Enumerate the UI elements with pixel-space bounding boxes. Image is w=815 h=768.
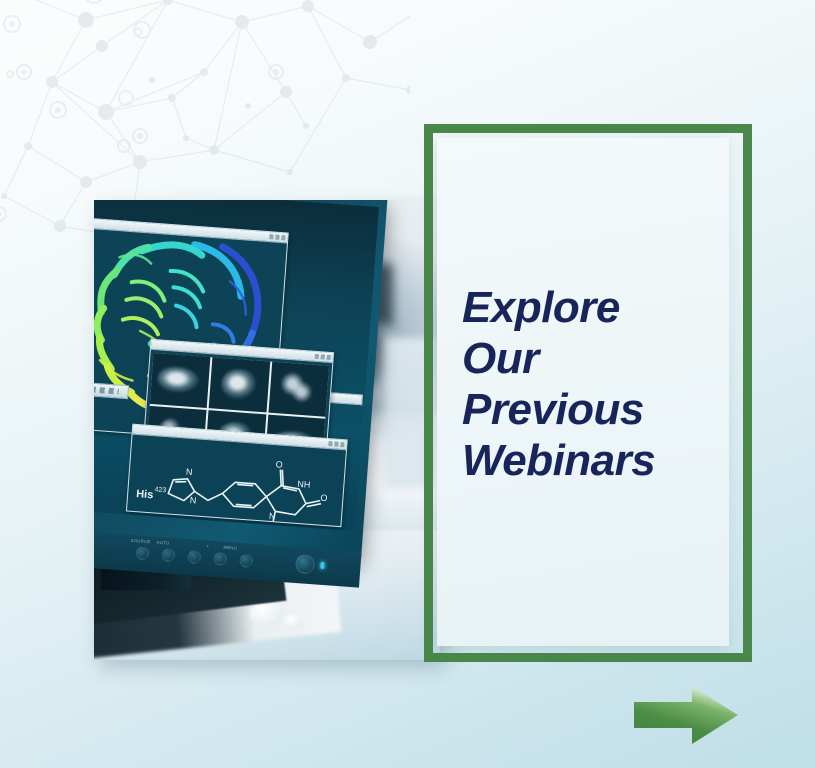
micrograph-cell — [150, 353, 211, 408]
atom-label-o: O — [275, 459, 283, 469]
atom-label-n: N — [190, 495, 197, 505]
monitor-button-source[interactable] — [135, 546, 149, 560]
atom-label-nh: NH — [297, 479, 311, 490]
residue-label: His — [136, 488, 154, 501]
monitor-label-menu: MENU — [223, 545, 237, 551]
monitor-screen: N N N NH O O R His 423 — [94, 200, 379, 531]
chemical-structure-viewer: N N N NH O O R His 423 — [126, 424, 348, 528]
headline-line-3: Previous — [462, 384, 722, 435]
monitor-button-minus[interactable] — [187, 550, 201, 564]
chemical-structure-graphic: N N N NH O O R His 423 — [127, 435, 346, 526]
next-arrow-icon[interactable] — [634, 684, 738, 746]
page-title: Explore Our Previous Webinars — [462, 282, 722, 486]
computer-monitor: N N N NH O O R His 423 — [94, 200, 388, 660]
atom-label-n: N — [186, 467, 193, 477]
monitor-label-plus: + — [206, 543, 209, 548]
headline-line-4: Webinars — [462, 435, 722, 486]
power-led-icon — [320, 562, 325, 569]
workstation-photo: N N N NH O O R His 423 — [94, 200, 440, 660]
monitor-button-menu[interactable] — [239, 554, 253, 568]
residue-number: 423 — [154, 486, 166, 494]
atom-label-o: O — [320, 493, 328, 503]
monitor-button-plus[interactable] — [213, 552, 227, 566]
micrograph-cell — [209, 357, 270, 412]
headline-line-1: Explore — [462, 282, 722, 333]
webinar-promo-slide: N N N NH O O R His 423 — [0, 0, 815, 768]
window-body: N N N NH O O R His 423 — [127, 435, 346, 526]
atom-label-n: N — [269, 511, 276, 521]
micrograph-cell — [268, 362, 329, 417]
headline-line-2: Our — [462, 333, 722, 384]
monitor-label-auto: AUTO — [157, 540, 170, 546]
monitor-button-auto[interactable] — [161, 548, 175, 562]
